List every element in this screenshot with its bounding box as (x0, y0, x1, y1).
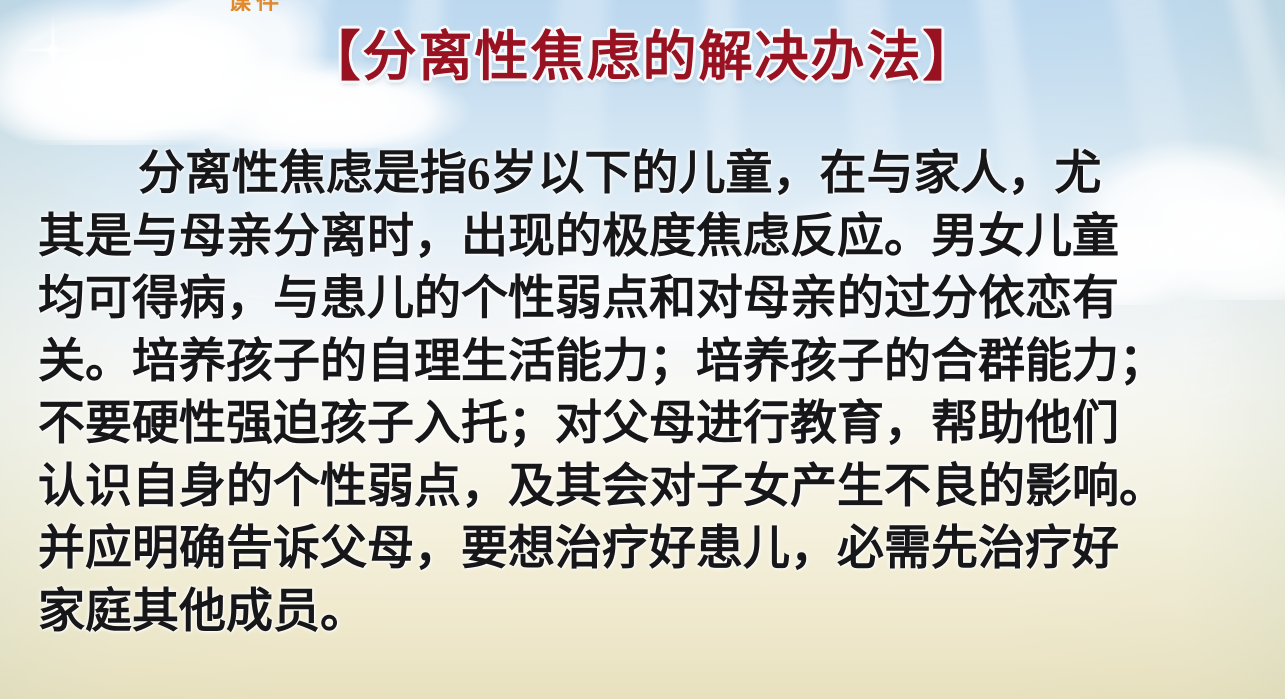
top-cropped-decoration: 课件 (228, 0, 328, 11)
body-line: 均可得病，与患儿的个性弱点和对母亲的过分依恋有 (38, 268, 1253, 331)
body-line: 分离性焦虑是指6岁以下的儿童，在与家人，尤 (38, 143, 1253, 206)
top-decoration-label: 课件 (228, 0, 284, 11)
body-line: 认识自身的个性弱点，及其会对子女产生不良的影响。 (38, 456, 1253, 519)
body-paragraph: 分离性焦虑是指6岁以下的儿童，在与家人，尤 其是与母亲分离时，出现的极度焦虑反应… (38, 143, 1253, 643)
slide-title: 【分离性焦虑的解决办法】 (0, 19, 1285, 95)
body-line: 不要硬性强迫孩子入托；对父母进行教育，帮助他们 (38, 393, 1253, 456)
body-line: 其是与母亲分离时，出现的极度焦虑反应。男女儿童 (38, 206, 1253, 269)
body-line: 关。培养孩子的自理生活能力；培养孩子的合群能力； (38, 331, 1253, 394)
body-line: 家庭其他成员。 (38, 581, 1253, 644)
body-line: 并应明确告诉父母，要想治疗好患儿，必需先治疗好 (38, 518, 1253, 581)
slide-canvas: 课件 【分离性焦虑的解决办法】 分离性焦虑是指6岁以下的儿童，在与家人，尤 其是… (0, 0, 1285, 699)
